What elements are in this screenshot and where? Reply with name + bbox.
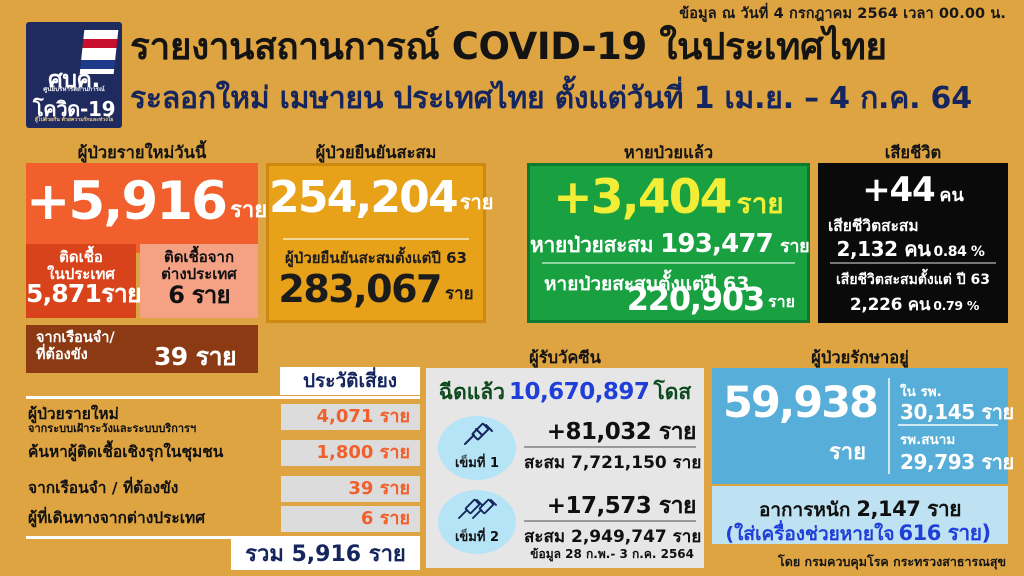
risk-value: 4,071 ราย — [281, 404, 420, 430]
deaths-cumulative-value: 2,132 คน0.84 % — [818, 233, 1000, 265]
syringe-icon — [438, 422, 516, 452]
recovered-box: +3,404ราย หายป่วยสะสม193,477ราย หายป่วยส… — [527, 163, 810, 323]
prison-cases-value: 39 ราย — [154, 337, 236, 377]
risk-row-overseas: ผู้ที่เดินทางจากต่างประเทศ 6 ราย — [26, 506, 420, 534]
risk-label: ผู้ป่วยรายใหม่ จากระบบเฝ้าระวังและระบบบร… — [28, 406, 196, 435]
page-subtitle: ระลอกใหม่ เมษายน ประเทศไทย ตั้งแต่วันที่… — [130, 82, 1020, 117]
active-patients-unit: ราย — [720, 434, 880, 469]
divider — [26, 396, 420, 399]
risk-row-prison: จากเรือนจำ / ที่ต้องขัง 39 ราย — [26, 476, 420, 504]
page-title: รายงานสถานการณ์ COVID-19 ในประเทศไทย — [130, 26, 1020, 67]
active-patients-total: 59,938 — [720, 382, 880, 425]
infographic-canvas: ข้อมูล ณ วันที่ 4 กรกฎาคม 2564 เวลา 00.0… — [0, 0, 1024, 576]
dose-1-cumulative: สะสม 7,721,150 ราย — [524, 449, 696, 476]
local-infection-box: ติดเชื้อในประเทศ 5,871ราย — [26, 244, 136, 318]
dose-1-badge: เข็มที่ 1 — [438, 416, 516, 480]
divider — [524, 446, 696, 448]
risk-label: ค้นหาผู้ติดเชื้อเชิงรุกในชุมชน — [28, 444, 223, 460]
prison-cases-label: จากเรือนจำ/ที่ต้องขัง — [36, 330, 115, 365]
field-hospital-value: 29,793 ราย — [900, 446, 1014, 478]
vaccination-total: ฉีดแล้ว10,670,897โดส — [426, 376, 704, 409]
divider — [898, 424, 998, 426]
dose-2-stats: +17,573 ราย สะสม 2,949,747 ราย — [524, 494, 696, 550]
risk-label: ผู้ที่เดินทางจากต่างประเทศ — [28, 510, 205, 526]
recovered-today: +3,404ราย — [530, 174, 807, 221]
deaths-since-label: เสียชีวิตสะสมตั้งแต่ ปี 63 — [818, 269, 1008, 291]
divider — [283, 238, 469, 240]
risk-label: จากเรือนจำ / ที่ต้องขัง — [28, 480, 178, 496]
cumulative-wave-value: 254,204ราย — [269, 176, 483, 220]
cumulative-confirmed-box: 254,204ราย ผู้ป่วยยืนยันสะสมตั้งแต่ปี 63… — [266, 163, 486, 323]
ccsa-logo: ศบค. ศูนย์บริหารสถานการณ์ โควิด-19 สู้ไป… — [26, 22, 122, 128]
deaths-box: +44คน เสียชีวิตสะสม 2,132 คน0.84 % เสียช… — [818, 163, 1008, 323]
severe-cases-box: อาการหนัก2,147 ราย (ใส่เครื่องช่วยหายใจ6… — [712, 486, 1008, 544]
prison-cases-box: จากเรือนจำ/ที่ต้องขัง 39 ราย — [26, 325, 258, 373]
ventilator-line: (ใส่เครื่องช่วยหายใจ616 ราย) — [712, 517, 1008, 550]
risk-value: 1,800 ราย — [281, 440, 420, 466]
source-credit: โดย กรมควบคุมโรค กระทรวงสาธารณสุข — [778, 552, 1006, 572]
divider — [830, 262, 996, 264]
dose-2-label: เข็มที่ 2 — [438, 526, 516, 547]
vaccination-box: ฉีดแล้ว10,670,897โดส เข็มที่ 1 +81,032 ร… — [426, 368, 704, 568]
vaccination-footnote: ข้อมูล 28 ก.พ.- 3 ก.ค. 2564 — [426, 545, 694, 564]
new-cases-box: +5,916ราย — [26, 163, 258, 253]
divider — [542, 262, 795, 264]
divider — [888, 378, 890, 474]
risk-history-title: ประวัติเสี่ยง — [280, 367, 420, 395]
active-patients-box: 59,938 ราย ใน รพ. 30,145 ราย รพ.สนาม 29,… — [712, 368, 1008, 484]
dose-1-stats: +81,032 ราย สะสม 7,721,150 ราย — [524, 420, 696, 476]
risk-row-active-search: ค้นหาผู้ติดเชื้อเชิงรุกในชุมชน 1,800 ราย — [26, 440, 420, 468]
risk-value: 39 ราย — [281, 476, 420, 502]
deaths-today: +44คน — [818, 173, 1008, 207]
dose-1-new: +81,032 ราย — [524, 420, 696, 444]
recovered-since-value: 220,903ราย — [627, 283, 795, 315]
deaths-since-value: 2,226 คน0.79 % — [818, 291, 1008, 318]
recovered-cumulative-line: หายป่วยสะสม193,477ราย — [530, 229, 807, 262]
risk-row-surveillance: ผู้ป่วยรายใหม่ จากระบบเฝ้าระวังและระบบบร… — [26, 404, 420, 432]
local-infection-value: 5,871ราย — [26, 274, 136, 314]
dose-2-new: +17,573 ราย — [524, 494, 696, 518]
double-syringe-icon — [438, 496, 516, 526]
data-timestamp: ข้อมูล ณ วันที่ 4 กรกฎาคม 2564 เวลา 00.0… — [679, 2, 1006, 25]
foreign-infection-box: ติดเชื้อจากต่างประเทศ 6 ราย — [140, 244, 258, 318]
new-cases-today: +5,916ราย — [26, 175, 248, 228]
dose-1-label: เข็มที่ 1 — [438, 452, 516, 473]
risk-history-total: รวม 5,916 ราย — [231, 539, 420, 570]
foreign-infection-value: 6 ราย — [140, 275, 258, 314]
cumulative-since-value: 283,067ราย — [269, 270, 483, 308]
risk-value: 6 ราย — [281, 506, 420, 532]
divider — [524, 520, 696, 522]
logo-tagline: สู้ไปด้วยกัน ด้วยความรักและห่วงใย — [26, 116, 122, 124]
